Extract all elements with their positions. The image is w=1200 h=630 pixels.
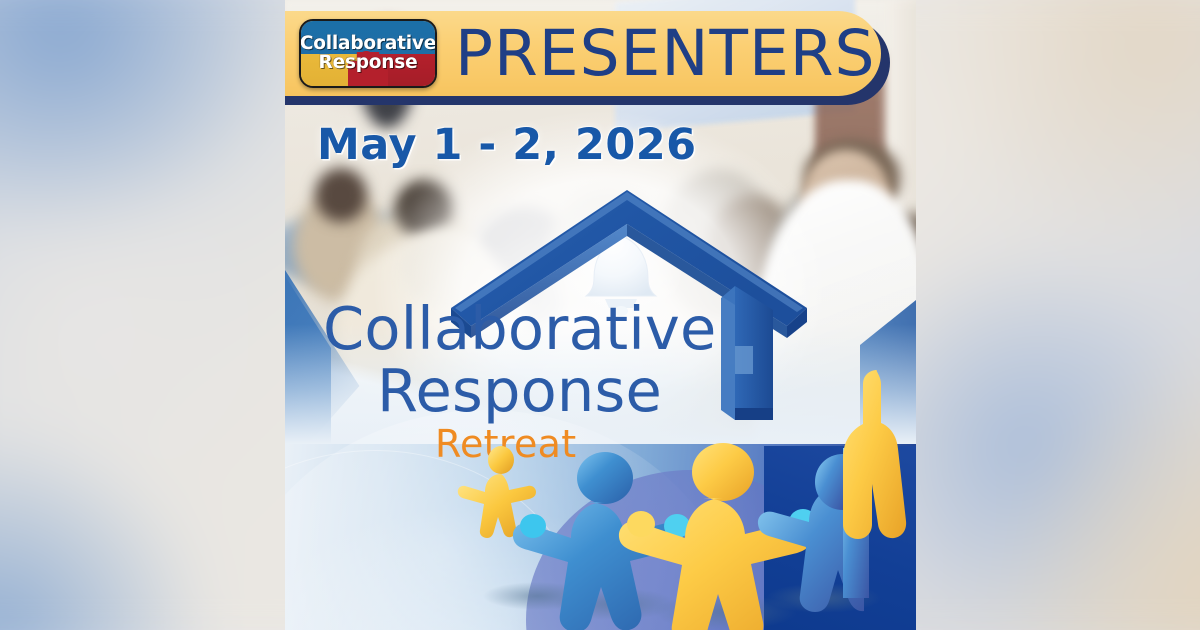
banner-title: PRESENTERS — [455, 17, 876, 90]
poster-panel: Collaborative Response Retreat — [285, 0, 916, 630]
collaborative-response-logo-badge[interactable]: Collaborative Response — [299, 19, 437, 88]
people-holding-hands-icon — [425, 440, 916, 630]
badge-line-2: Response — [319, 54, 418, 73]
presenters-banner: Collaborative Response PRESENTERS — [285, 11, 881, 104]
event-date: May 1 - 2, 2026 — [317, 120, 697, 170]
badge-line-1: Collaborative — [300, 35, 436, 54]
logo-word-response: Response — [285, 362, 916, 420]
logo-word-collaborative: Collaborative — [285, 300, 916, 358]
banner-face: Collaborative Response PRESENTERS — [285, 11, 881, 96]
poster-canvas: Collaborative Response Retreat — [0, 0, 1200, 630]
